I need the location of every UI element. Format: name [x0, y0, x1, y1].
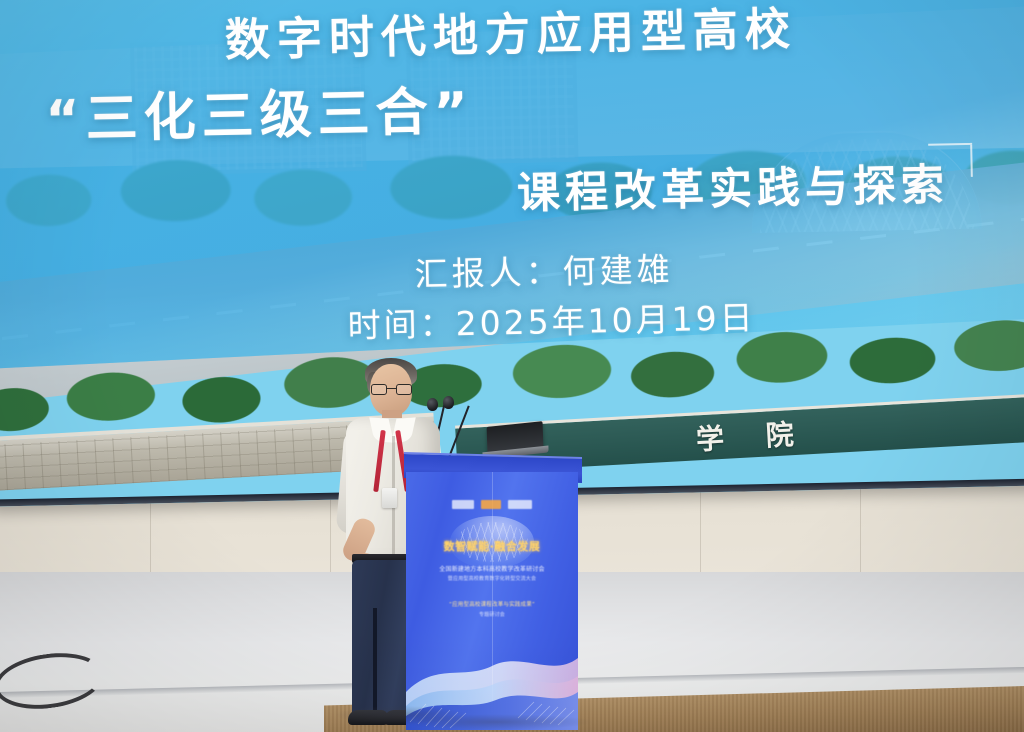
podium-subline-3: “应用型高校课程改革与实践成果” — [406, 600, 578, 608]
podium-subline-2: 暨应用型高校教育数字化转型交流大会 — [406, 575, 578, 582]
slide-corner-bracket-decoration — [928, 143, 973, 178]
speaker-badge — [382, 488, 397, 508]
glasses-icon — [371, 384, 412, 395]
speaker-trouser-gap — [373, 608, 377, 722]
sponsor-logo-2-icon — [481, 500, 501, 509]
podium-sponsor-logos — [406, 500, 578, 509]
podium-subline-1: 全国新建地方本科高校教学改革研讨会 — [406, 564, 578, 573]
laptop — [487, 421, 544, 453]
presentation-photo-scene: 学 院 数字时代地方应用型高校 “三化三级三合” 课程改革实践与探索 汇报人：何… — [0, 0, 1024, 732]
sponsor-logo-3-icon — [508, 500, 532, 509]
podium: 数智赋能·融合发展 全国新建地方本科高校教学改革研讨会 暨应用型高校教育数字化转… — [404, 452, 582, 730]
podium-floor-shadow — [396, 714, 596, 730]
slide-blue-overlay — [0, 0, 1024, 370]
sponsor-logo-1-icon — [452, 500, 474, 509]
podium-subline-4: 专题研讨会 — [406, 611, 578, 618]
podium-front-panel: 数智赋能·融合发展 全国新建地方本科高校教学改革研讨会 暨应用型高校教育数字化转… — [406, 472, 578, 730]
podium-headline: 数智赋能·融合发展 — [406, 538, 578, 554]
